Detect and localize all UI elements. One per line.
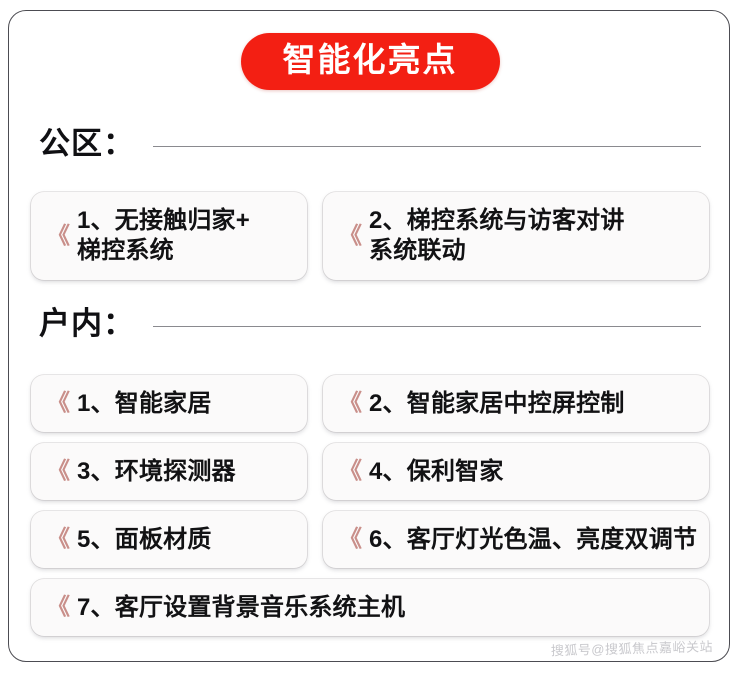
list-item-label: 2、梯控系统与访客对讲 系统联动 bbox=[369, 206, 699, 266]
section-heading-indoor: 户内： bbox=[39, 305, 711, 343]
section-divider-public-area bbox=[153, 146, 701, 147]
list-item-label: 1、无接触归家+ 梯控系统 bbox=[77, 206, 297, 266]
list-item[interactable]: 《 2、梯控系统与访客对讲 系统联动 bbox=[323, 192, 709, 280]
list-item-label: 1、智能家居 bbox=[77, 389, 297, 419]
list-item[interactable]: 《 2、智能家居中控屏控制 bbox=[323, 375, 709, 432]
list-item[interactable]: 《 1、智能家居 bbox=[31, 375, 307, 432]
title-banner: 智能化亮点 bbox=[9, 33, 730, 90]
list-item-label: 2、智能家居中控屏控制 bbox=[369, 389, 699, 419]
list-item[interactable]: 《 1、无接触归家+ 梯控系统 bbox=[31, 192, 307, 280]
list-item-label: 4、保利智家 bbox=[369, 457, 699, 487]
double-chevron-left-icon: 《 bbox=[339, 527, 360, 550]
section-divider-indoor bbox=[153, 326, 701, 327]
list-item[interactable]: 《 7、客厅设置背景音乐系统主机 bbox=[31, 579, 709, 636]
list-item-label: 7、客厅设置背景音乐系统主机 bbox=[77, 593, 699, 623]
double-chevron-left-icon: 《 bbox=[47, 224, 68, 247]
list-item-label: 5、面板材质 bbox=[77, 525, 297, 555]
double-chevron-left-icon: 《 bbox=[47, 459, 68, 482]
double-chevron-left-icon: 《 bbox=[47, 595, 68, 618]
section-label-public-area: 公区： bbox=[39, 125, 135, 163]
section-heading-public-area: 公区： bbox=[39, 125, 711, 163]
double-chevron-left-icon: 《 bbox=[47, 527, 68, 550]
poster-card: 智能化亮点 公区： 《 1、无接触归家+ 梯控系统 《 2、梯控系统与访客对讲 … bbox=[8, 10, 730, 662]
list-item[interactable]: 《 4、保利智家 bbox=[323, 443, 709, 500]
double-chevron-left-icon: 《 bbox=[339, 459, 360, 482]
list-item[interactable]: 《 5、面板材质 bbox=[31, 511, 307, 568]
section-label-indoor: 户内： bbox=[39, 305, 135, 343]
list-item[interactable]: 《 3、环境探测器 bbox=[31, 443, 307, 500]
double-chevron-left-icon: 《 bbox=[47, 391, 68, 414]
list-item-label: 3、环境探测器 bbox=[77, 457, 297, 487]
double-chevron-left-icon: 《 bbox=[339, 224, 360, 247]
list-item-label: 6、客厅灯光色温、亮度双调节 bbox=[369, 525, 699, 555]
page-title: 智能化亮点 bbox=[241, 33, 500, 90]
watermark: 搜狐号@搜狐焦点嘉峪关站 bbox=[550, 636, 713, 659]
double-chevron-left-icon: 《 bbox=[339, 391, 360, 414]
list-item[interactable]: 《 6、客厅灯光色温、亮度双调节 bbox=[323, 511, 709, 568]
